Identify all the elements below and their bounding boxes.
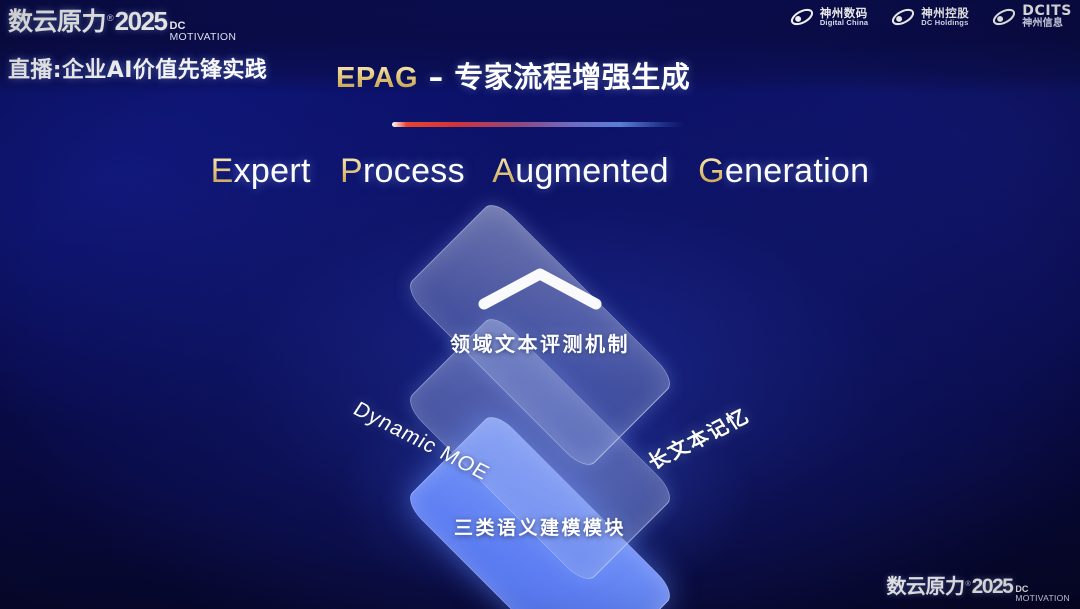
partner-cn-2: DCITS xyxy=(1022,4,1072,19)
partner-label-dcits: DCITS 神州信息 xyxy=(1022,4,1072,29)
subtitle-word-1: Process xyxy=(340,152,465,190)
partner-label-digital-china: 神州数码 Digital China xyxy=(820,7,868,27)
partner-logo-dcits: DCITS 神州信息 xyxy=(991,4,1072,29)
partner-cn-1: 神州控股 xyxy=(921,7,969,19)
watermark-motivation-text: MOTIVATION xyxy=(1015,594,1070,603)
subtitle-space-0 xyxy=(320,152,330,190)
brand-name-cn: 数云原力 xyxy=(8,2,106,38)
subtitle-space-1 xyxy=(475,152,485,190)
accent-divider xyxy=(392,122,684,127)
brand-motivation-text: MOTIVATION xyxy=(170,32,237,43)
brand-dc-motivation: DC MOTIVATION xyxy=(170,21,237,43)
partner-label-dc-holdings: 神州控股 DC Holdings xyxy=(921,7,969,27)
partner-en-2: 神州信息 xyxy=(1022,19,1072,30)
watermark-name-cn: 数云原力 xyxy=(886,570,964,599)
subtitle-cap-0: E xyxy=(211,152,234,190)
live-stream-title: 直播:企业AI价值先锋实践 xyxy=(8,52,267,84)
partner-en-1: DC Holdings xyxy=(921,19,969,27)
subtitle-rest-0: xpert xyxy=(234,152,311,190)
slide-canvas: 数云原力 ® 2025 DC MOTIVATION 直播:企业AI价值先锋实践 xyxy=(0,0,1080,609)
watermark-registered-mark: ® xyxy=(965,581,970,588)
subtitle-word-2: Augmented xyxy=(492,152,669,190)
partner-logo-group: 神州数码 Digital China 神州控股 DC Holdings xyxy=(789,4,1072,29)
bottom-watermark: 数云原力 ® 2025 DC MOTIVATION xyxy=(886,570,1070,604)
subtitle-rest-3: eneration xyxy=(725,152,869,190)
diagram-label-middle-right: 长文本记忆 xyxy=(641,400,755,474)
partner-cn-0: 神州数码 xyxy=(820,7,868,19)
page-title-rest: – 专家流程增强生成 xyxy=(418,60,690,94)
subtitle-cap-3: G xyxy=(698,152,725,190)
watermark-year: 2025 xyxy=(972,575,1013,599)
page-title: EPAG – 专家流程增强生成 xyxy=(336,54,690,96)
partner-logo-digital-china: 神州数码 Digital China xyxy=(789,6,868,28)
subtitle-word-0: Expert xyxy=(211,152,311,190)
subtitle-cap-2: A xyxy=(492,152,515,190)
subtitle-cap-1: P xyxy=(340,152,363,190)
subtitle-space-2 xyxy=(679,152,689,190)
page-title-accent: EPAG xyxy=(336,62,418,94)
watermark-dc-motivation: DC MOTIVATION xyxy=(1015,585,1070,603)
chevron-up-icon xyxy=(474,264,606,310)
subtitle-word-3: Generation xyxy=(698,152,869,190)
partner-logo-dc-holdings: 神州控股 DC Holdings xyxy=(890,6,969,28)
swirl-logo-icon xyxy=(890,6,916,28)
swirl-logo-icon xyxy=(991,6,1017,28)
subtitle-rest-2: ugmented xyxy=(515,152,669,190)
brand-year: 2025 xyxy=(115,6,167,37)
brand-logo: 数云原力 ® 2025 DC MOTIVATION xyxy=(8,2,236,44)
swirl-logo-icon xyxy=(789,6,815,28)
subtitle: Expert Process Augmented Generation xyxy=(0,152,1080,191)
layered-architecture-diagram: 领域文本评测机制 Dynamic MOE 长文本记忆 三类语义建模模块 xyxy=(305,228,775,568)
partner-en-0: Digital China xyxy=(820,19,868,27)
brand-registered-mark: ® xyxy=(107,13,114,23)
subtitle-rest-1: rocess xyxy=(363,152,465,190)
